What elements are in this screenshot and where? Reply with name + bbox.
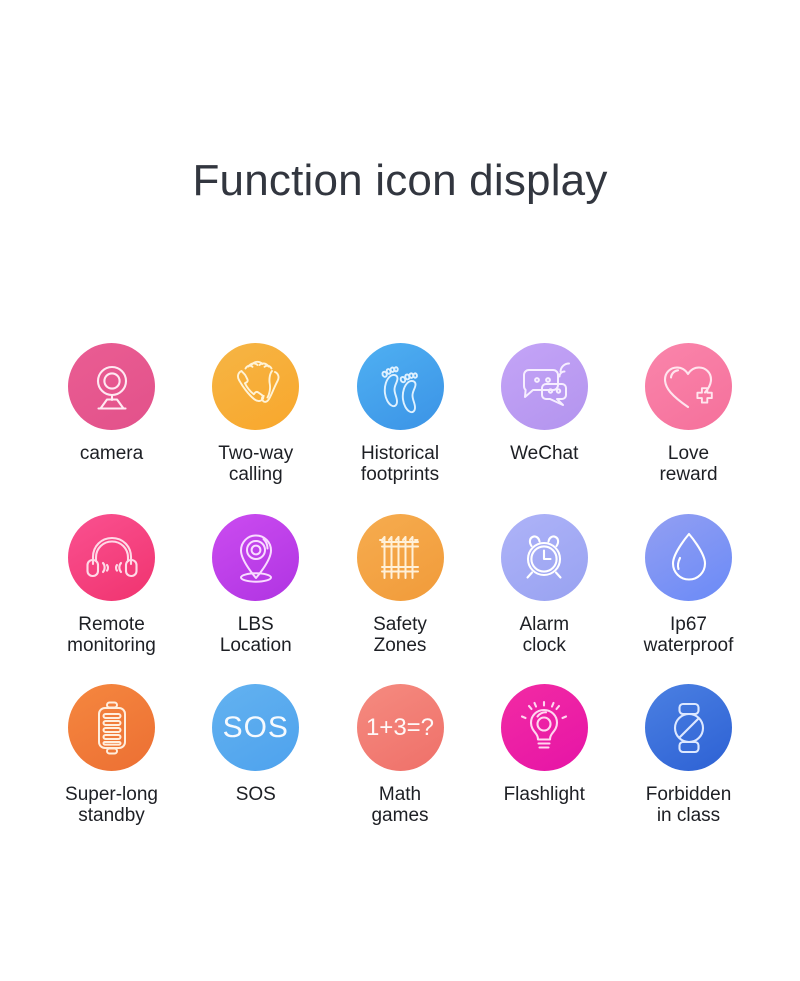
icon-label: Super-long standby	[65, 784, 158, 827]
icon-label: LBS Location	[220, 614, 292, 657]
alarm-clock-icon[interactable]	[501, 514, 588, 601]
icon-cell-math-text[interactable]: 1+3=?Math games	[331, 684, 470, 827]
icon-cell-battery[interactable]: Super-long standby	[42, 684, 181, 827]
icon-cell-headphones[interactable]: Remote monitoring	[42, 514, 181, 657]
icon-row: Remote monitoring LBS Location Safety Zo…	[42, 514, 758, 657]
icon-cell-heart-plus[interactable]: Love reward	[619, 343, 758, 486]
icon-row: camera Two-way calling Historical footpr…	[42, 343, 758, 486]
icon-label: Math games	[371, 784, 428, 827]
icon-cell-location-pin[interactable]: LBS Location	[186, 514, 325, 657]
webcam-icon[interactable]	[68, 343, 155, 430]
icon-cell-alarm-clock[interactable]: Alarm clock	[475, 514, 614, 657]
icon-label: Flashlight	[504, 784, 585, 805]
icon-cell-sos-text[interactable]: SOSSOS	[186, 684, 325, 805]
icon-cell-no-watch[interactable]: Forbidden in class	[619, 684, 758, 827]
icon-grid: camera Two-way calling Historical footpr…	[42, 343, 758, 827]
icon-cell-two-handsets[interactable]: Two-way calling	[186, 343, 325, 486]
sos-text-icon-text: SOS	[223, 713, 289, 743]
icon-showcase-page: Function icon display camera Two-way cal…	[0, 0, 800, 981]
icon-cell-footprints[interactable]: Historical footprints	[331, 343, 470, 486]
icon-cell-chat-bubbles[interactable]: WeChat	[475, 343, 614, 464]
math-text-icon[interactable]: 1+3=?	[357, 684, 444, 771]
icon-label: Remote monitoring	[67, 614, 156, 657]
icon-cell-webcam[interactable]: camera	[42, 343, 181, 464]
battery-icon[interactable]	[68, 684, 155, 771]
water-drop-icon[interactable]	[645, 514, 732, 601]
icon-cell-fence[interactable]: Safety Zones	[331, 514, 470, 657]
icon-label: Alarm clock	[519, 614, 569, 657]
footprints-icon[interactable]	[357, 343, 444, 430]
icon-label: Love reward	[659, 443, 717, 486]
icon-label: SOS	[236, 784, 276, 805]
fence-icon[interactable]	[357, 514, 444, 601]
lightbulb-icon[interactable]	[501, 684, 588, 771]
icon-label: WeChat	[510, 443, 578, 464]
icon-cell-water-drop[interactable]: Ip67 waterproof	[619, 514, 758, 657]
sos-text-icon[interactable]: SOS	[212, 684, 299, 771]
icon-label: Ip67 waterproof	[644, 614, 734, 657]
icon-label: Forbidden in class	[646, 784, 732, 827]
icon-label: camera	[80, 443, 143, 464]
icon-label: Historical footprints	[361, 443, 439, 486]
two-handsets-icon[interactable]	[212, 343, 299, 430]
icon-label: Two-way calling	[218, 443, 293, 486]
chat-bubbles-icon[interactable]	[501, 343, 588, 430]
page-title: Function icon display	[0, 155, 800, 208]
location-pin-icon[interactable]	[212, 514, 299, 601]
headphones-icon[interactable]	[68, 514, 155, 601]
icon-row: Super-long standbySOSSOS1+3=?Math games …	[42, 684, 758, 827]
icon-cell-lightbulb[interactable]: Flashlight	[475, 684, 614, 805]
heart-plus-icon[interactable]	[645, 343, 732, 430]
icon-label: Safety Zones	[373, 614, 427, 657]
no-watch-icon[interactable]	[645, 684, 732, 771]
math-text-icon-text: 1+3=?	[366, 716, 434, 740]
